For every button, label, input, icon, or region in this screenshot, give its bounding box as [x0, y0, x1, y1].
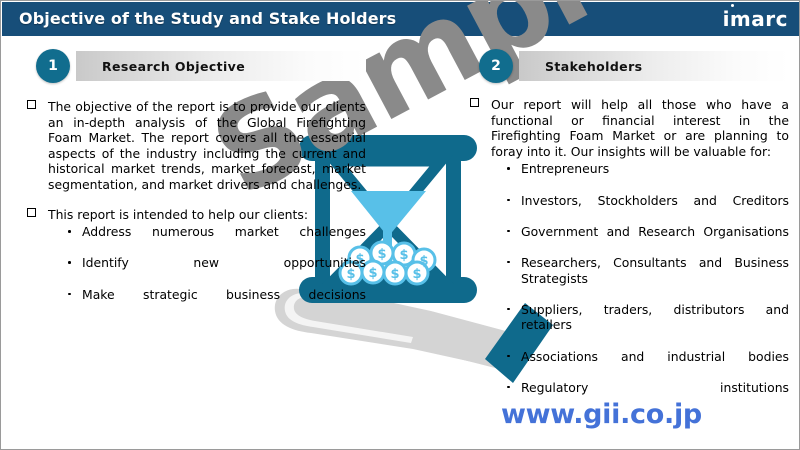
svg-text:$: $ [377, 247, 386, 262]
dot-bullet-icon [68, 230, 71, 233]
dot-bullet-icon [507, 386, 510, 389]
section-header-2: 2 Stakeholders [469, 47, 789, 85]
list-item-label: Entrepreneurs [521, 161, 609, 176]
svg-text:$: $ [419, 254, 428, 269]
dot-bullet-icon [507, 308, 510, 311]
section-title-2: Stakeholders [545, 59, 642, 74]
dot-bullet-icon [507, 261, 510, 264]
list-item: Identify new opportunities [66, 255, 366, 286]
logo-dot-icon [731, 4, 734, 7]
paragraph-text: This report is intended to help our clie… [48, 207, 366, 223]
dot-bullet-icon [68, 293, 71, 296]
square-bullet-icon [470, 98, 479, 107]
square-bullet-icon [27, 100, 36, 109]
section-stakeholders: 2 Stakeholders Our report will help all … [469, 47, 789, 425]
list-item-label: Researchers, Consultants and Business St… [521, 255, 789, 286]
list-item-label: Identify new opportunities [82, 255, 366, 270]
paragraph: The objective of the report is to provid… [26, 99, 366, 193]
list-item-label: Regulatory institutions [521, 380, 789, 395]
imarc-logo: imarc [723, 7, 788, 31]
list-item: Associations and industrial bodies [505, 349, 789, 380]
section-number-badge-2: 2 [479, 49, 513, 83]
logo-text: imarc [723, 7, 788, 31]
list-item: Researchers, Consultants and Business St… [505, 255, 789, 302]
list-item: Investors, Stockholders and Creditors [505, 193, 789, 224]
dot-bullet-icon [507, 355, 510, 358]
list-item-label: Suppliers, traders, distributors and ret… [521, 302, 789, 333]
list-item: Entrepreneurs [505, 161, 789, 192]
svg-text:$: $ [390, 267, 399, 282]
list-item-label: Make strategic business decisions [82, 287, 366, 302]
svg-text:$: $ [412, 267, 421, 282]
paragraph: This report is intended to help our clie… [26, 207, 366, 318]
svg-text:$: $ [368, 266, 377, 281]
page-title: Objective of the Study and Stake Holders [19, 9, 396, 28]
list-item: Government and Research Organisations [505, 224, 789, 255]
dot-bullet-icon [507, 230, 510, 233]
slide: Objective of the Study and Stake Holders… [0, 0, 800, 450]
section-header-1: 1 Research Objective [26, 47, 366, 85]
section-title-bar-2: Stakeholders [519, 51, 789, 81]
square-bullet-icon [27, 208, 36, 217]
section-title-1: Research Objective [102, 59, 245, 74]
paragraph: Our report will help all those who have … [469, 97, 789, 411]
list-item-label: Associations and industrial bodies [521, 349, 789, 364]
list-item: Make strategic business decisions [66, 287, 366, 318]
dot-bullet-icon [507, 167, 510, 170]
list-item-label: Government and Research Organisations [521, 224, 789, 239]
slide-header: Objective of the Study and Stake Holders… [2, 2, 800, 36]
list-item: Address numerous market challenges [66, 224, 366, 255]
section-number-badge-1: 1 [36, 49, 70, 83]
list-item-label: Investors, Stockholders and Creditors [521, 193, 789, 208]
website-url[interactable]: www.gii.co.jp [501, 399, 702, 430]
section-body-1: The objective of the report is to provid… [26, 99, 366, 318]
sub-bullet-list: Entrepreneurs Investors, Stockholders an… [491, 161, 789, 411]
sub-bullet-list: Address numerous market challenges Ident… [48, 224, 366, 318]
dot-bullet-icon [507, 199, 510, 202]
list-item: Suppliers, traders, distributors and ret… [505, 302, 789, 349]
section-title-bar-1: Research Objective [76, 51, 366, 81]
paragraph-text: Our report will help all those who have … [491, 97, 789, 159]
list-item-label: Address numerous market challenges [82, 224, 366, 239]
dot-bullet-icon [68, 261, 71, 264]
paragraph-text: The objective of the report is to provid… [48, 99, 366, 193]
section-research-objective: 1 Research Objective The objective of th… [26, 47, 366, 332]
section-body-2: Our report will help all those who have … [469, 97, 789, 411]
svg-text:$: $ [399, 248, 408, 263]
